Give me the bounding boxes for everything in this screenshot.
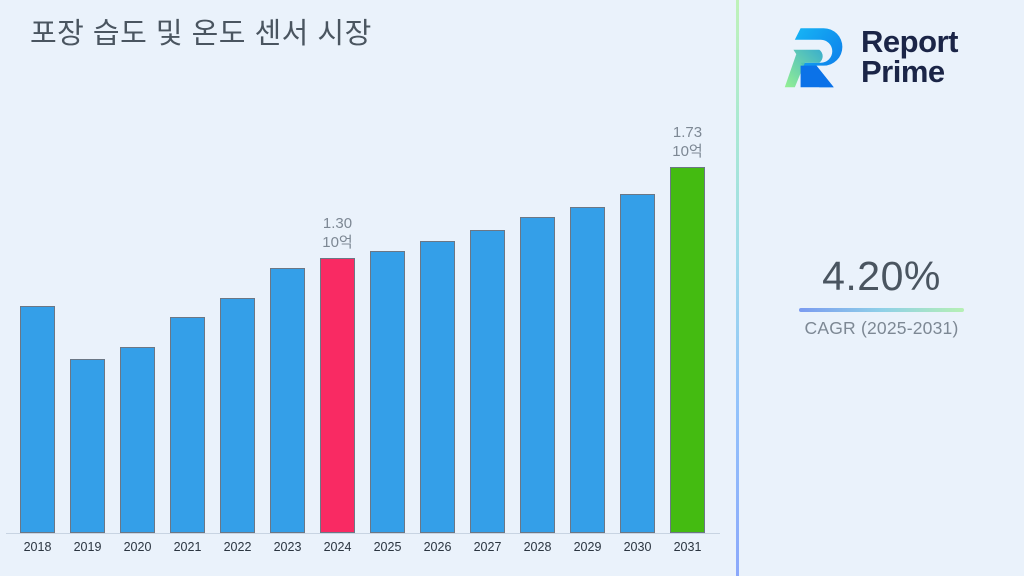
bar-rect-2029[interactable]	[570, 207, 605, 533]
bar-2028[interactable]	[520, 217, 555, 533]
bar-2026[interactable]	[420, 241, 455, 533]
x-tick-2019: 2019	[70, 540, 105, 554]
bar-rect-2021[interactable]	[170, 317, 205, 533]
bar-rect-2020[interactable]	[120, 347, 155, 533]
brand-name-line1: Report	[861, 27, 958, 56]
x-tick-2028: 2028	[520, 540, 555, 554]
bar-rect-2024[interactable]	[320, 258, 355, 533]
bar-2022[interactable]	[220, 298, 255, 533]
bar-2025[interactable]	[370, 251, 405, 533]
plot-area: 1.3010억1.7310억	[0, 120, 736, 534]
bar-2030[interactable]	[620, 194, 655, 533]
bar-rect-2025[interactable]	[370, 251, 405, 533]
bar-2018[interactable]	[20, 306, 55, 533]
x-tick-2023: 2023	[270, 540, 305, 554]
brand-name-line2: Prime	[861, 57, 958, 86]
x-tick-2030: 2030	[620, 540, 655, 554]
bar-value-label-2024: 1.3010억	[322, 214, 353, 252]
bar-rect-2028[interactable]	[520, 217, 555, 533]
x-tick-2027: 2027	[470, 540, 505, 554]
x-tick-2018: 2018	[20, 540, 55, 554]
x-axis-baseline	[6, 533, 720, 534]
bar-rect-2023[interactable]	[270, 268, 305, 533]
bar-rect-2031[interactable]	[670, 167, 705, 533]
bar-value-label-2031: 1.7310억	[672, 123, 703, 161]
bar-2027[interactable]	[470, 230, 505, 533]
chart-panel: 포장 습도 및 온도 센서 시장 1.3010억1.7310억 20182019…	[0, 0, 736, 576]
bar-value-unit-2031: 10억	[672, 142, 703, 161]
x-tick-2024: 2024	[320, 540, 355, 554]
x-tick-2025: 2025	[370, 540, 405, 554]
chart-infographic: 포장 습도 및 온도 센서 시장 1.3010억1.7310억 20182019…	[0, 0, 1024, 576]
x-tick-2029: 2029	[570, 540, 605, 554]
bar-2023[interactable]	[270, 268, 305, 533]
bar-rect-2018[interactable]	[20, 306, 55, 533]
x-tick-2031: 2031	[670, 540, 705, 554]
bar-2021[interactable]	[170, 317, 205, 533]
bar-rect-2022[interactable]	[220, 298, 255, 533]
cagr-value: 4.20%	[739, 255, 1024, 298]
bar-2031[interactable]: 1.7310억	[670, 167, 705, 533]
bar-2019[interactable]	[70, 359, 105, 533]
cagr-block: 4.20% CAGR (2025-2031)	[739, 255, 1024, 339]
cagr-divider-rule	[799, 308, 964, 312]
x-axis-tick-labels: 2018201920202021202220232024202520262027…	[0, 540, 736, 568]
bar-rect-2027[interactable]	[470, 230, 505, 533]
brand-logo: Report Prime	[779, 14, 999, 99]
x-tick-2021: 2021	[170, 540, 205, 554]
bar-value-number-2031: 1.73	[672, 123, 703, 142]
brand-panel: Report Prime 4.20% CAGR (2025-2031)	[739, 0, 1024, 576]
brand-name: Report Prime	[861, 27, 958, 86]
x-tick-2022: 2022	[220, 540, 255, 554]
page-title: 포장 습도 및 온도 센서 시장	[30, 10, 372, 52]
x-tick-2026: 2026	[420, 540, 455, 554]
bar-value-unit-2024: 10억	[322, 233, 353, 252]
bar-value-number-2024: 1.30	[322, 214, 353, 233]
bar-rect-2030[interactable]	[620, 194, 655, 533]
x-tick-2020: 2020	[120, 540, 155, 554]
bar-2029[interactable]	[570, 207, 605, 533]
bar-2024[interactable]: 1.3010억	[320, 258, 355, 533]
bar-rect-2026[interactable]	[420, 241, 455, 533]
bar-rect-2019[interactable]	[70, 359, 105, 533]
cagr-caption: CAGR (2025-2031)	[739, 318, 1024, 339]
report-prime-logo-mark-icon	[779, 21, 851, 93]
bar-2020[interactable]	[120, 347, 155, 533]
